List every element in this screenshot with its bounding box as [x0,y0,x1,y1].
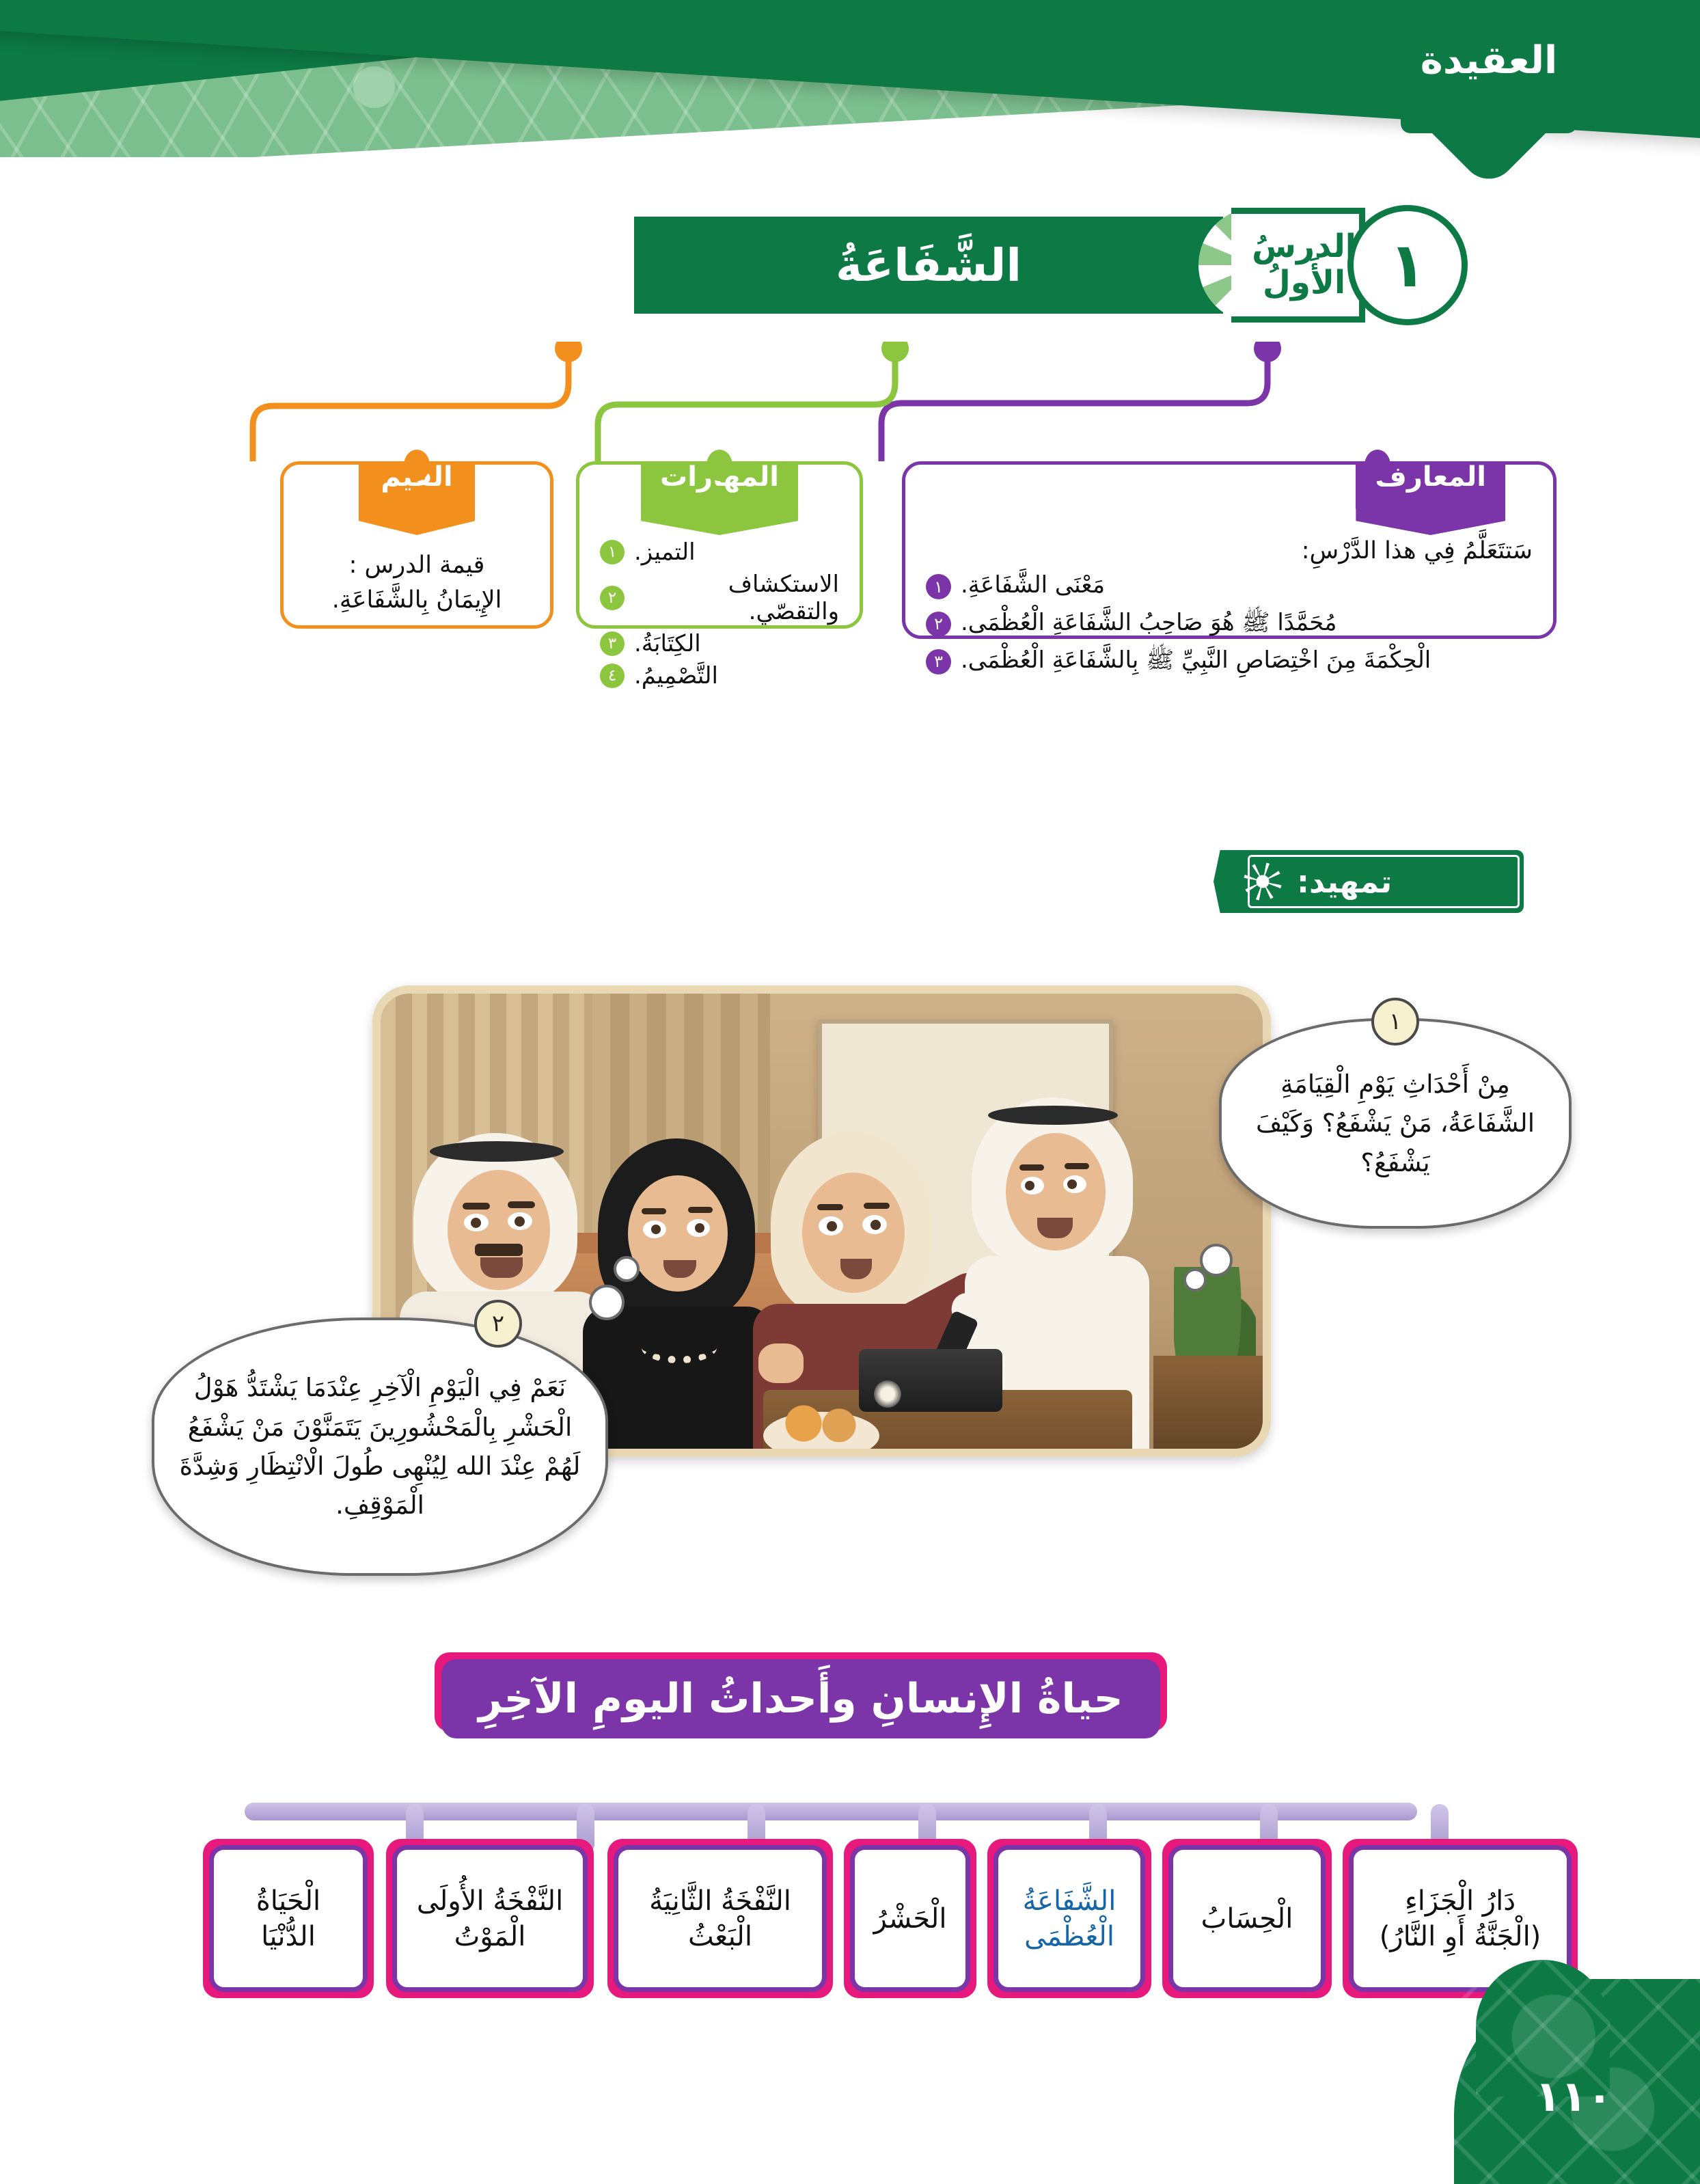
girl-eye-left [819,1216,843,1236]
flow-title-text: حياةُ الإِنسانِ وأَحداثُ اليومِ الآخِرِ [478,1675,1123,1723]
skills-item: التميز. ١ [600,538,839,566]
flow-card-3-text: النَّفْخَةُ الثَّانِيَةُ الْبَعْثُ [649,1883,791,1954]
bubble2-tail-small [614,1256,640,1282]
mother-head [628,1175,728,1292]
skills-item: التَّصْمِيمُ. ٤ [600,662,839,690]
boy-igal [988,1106,1118,1125]
father-brow-right [508,1201,535,1208]
boy-head [1006,1133,1106,1251]
skills-item-number: ٤ [600,664,625,688]
boy-pupil-left [1025,1181,1034,1190]
objectives-section: المعارف سَتتَعَلَّمُ فِي هذا الدَّرْسِ: … [0,461,1700,817]
bubble1-tail-small [1183,1268,1207,1292]
father-mouth [480,1257,523,1278]
mother-brow-left [642,1208,666,1214]
knowledge-box: المعارف سَتتَعَلَّمُ فِي هذا الدَّرْسِ: … [902,461,1557,639]
flow-card-5-text: الشَّفَاعَةُ الْعُظْمَى [1023,1883,1116,1954]
mother-brow-right [688,1207,713,1213]
projector-icon [859,1349,1002,1412]
flow-card-1-text: الْحَيَاةُ الدُّنْيَا [256,1883,320,1954]
knowledge-item-text: مَعْنَى الشَّفَاعَةِ. [961,570,1105,601]
bubble1-tail-large [1200,1244,1233,1277]
values-body: قيمة الدرس : الإِيمَانُ بِالشَّفَاعَةِ. [284,540,550,625]
knowledge-item-text: الْحِكْمَةَ مِنَ اخْتِصَاصِ النَّبِيِّ ﷺ… [961,645,1431,677]
girl-mouth [840,1259,872,1279]
speech-bubble-1-text: مِنْ أَحْدَاثِ يَوْمِ الْقِيَامَةِ الشَّ… [1222,1051,1569,1196]
father-igal [430,1141,564,1162]
connector-lines [0,342,1700,478]
connector-values [253,349,568,461]
knowledge-item: مُحَمَّدًا ﷺ هُوَ صَاحِبُ الشَّفَاعَةِ ا… [926,608,1533,639]
girl-eye-right [862,1215,887,1234]
knowledge-connector-dot [1365,450,1390,481]
girl-brow-right [864,1203,890,1209]
side-table [1153,1356,1263,1449]
mother-pupil-left [651,1225,661,1234]
lesson-number: ١ [1389,230,1427,301]
connector-dot-skills [881,342,909,362]
knowledge-item: مَعْنَى الشَّفَاعَةِ. ١ [926,570,1533,601]
skills-item-text: التميز. [634,538,696,566]
speech-bubble-2-number: ٢ [474,1300,522,1348]
mother-pupil-right [695,1223,704,1233]
knowledge-item-number: ٣ [926,649,951,674]
father-brow-left [463,1203,490,1210]
lesson-label-line1: الدرسُ [1252,229,1356,265]
skills-item: الاستكشاف والتقصّي. ٢ [600,571,839,625]
lesson-label: الدرسُ الأَولُ [1231,208,1365,323]
boy-mouth [1037,1218,1073,1238]
subject-label: العقيدة [1421,38,1557,83]
knowledge-tag-label: المعارف [1375,461,1486,493]
father-pupil-right [515,1216,525,1227]
speech-bubble-2: ٢ نَعَمْ فِي الْيَوْمِ الْآخِرِ عِنْدَمَ… [152,1318,608,1576]
father-pupil-left [471,1218,481,1228]
flow-card-6-text: الْحِسَابُ [1201,1901,1293,1937]
boy-brow-right [1065,1163,1089,1169]
values-connector-dot [404,450,430,481]
skills-item-text: الاستكشاف والتقصّي. [634,571,839,625]
flow-title: حياةُ الإِنسانِ وأَحداثُ اليومِ الآخِرِ [441,1659,1160,1738]
boy-eye-right [1063,1175,1086,1193]
fruit [777,1404,866,1443]
mother-eye-left [643,1220,666,1238]
values-line2: الإِيمَانُ بِالشَّفَاعَةِ. [304,583,530,618]
skills-connector-dot [707,450,732,481]
skills-item-text: التَّصْمِيمُ. [634,662,718,690]
lesson-title: الشَّفَاعَةُ [836,239,1022,292]
knowledge-item-text: مُحَمَّدًا ﷺ هُوَ صَاحِبُ الشَّفَاعَةِ ا… [961,608,1336,639]
skills-item-number: ١ [600,540,625,564]
skills-item-number: ٣ [600,631,625,656]
flow-card-6: الْحِسَابُ [1168,1845,1326,1992]
flow-card-1: الْحَيَاةُ الدُّنْيَا [209,1845,368,1992]
girl-pupil-left [827,1221,837,1231]
girl-pupil-right [870,1220,881,1230]
flow-card-4: الْحَشْرُ [850,1845,970,1992]
knowledge-item: الْحِكْمَةَ مِنَ اخْتِصَاصِ النَّبِيِّ ﷺ… [926,645,1533,677]
values-line1: قيمة الدرس : [304,548,530,583]
speech-bubble-1-number: ١ [1371,998,1419,1046]
knowledge-item-number: ٢ [926,612,951,637]
skills-box: المهارات التميز. ١ الاستكشاف والتقصّي. ٢… [576,461,863,629]
knowledge-intro: سَتتَعَلَّمُ فِي هذا الدَّرْسِ: [926,537,1533,564]
connector-dot-knowledge [1254,342,1281,362]
knowledge-item-number: ١ [926,574,951,599]
lesson-label-line2: الأَولُ [1263,265,1345,301]
knowledge-body: سَتتَعَلَّمُ فِي هذا الدَّرْسِ: مَعْنَى … [905,530,1553,636]
values-box: القيم قيمة الدرس : الإِيمَانُ بِالشَّفَا… [280,461,553,629]
speech-bubble-1: ١ مِنْ أَحْدَاثِ يَوْمِ الْقِيَامَةِ الش… [1219,1018,1572,1229]
bubble2-tail-large [589,1285,625,1320]
mother-necklace [642,1333,717,1363]
mother-mouth [663,1260,696,1278]
mother-dress [583,1307,773,1449]
skills-item: الكِتَابَةُ. ٣ [600,630,839,657]
boy-brow-left [1019,1164,1044,1171]
star-rosette-icon [1244,862,1282,901]
speech-bubble-2-text: نَعَمْ فِي الْيَوْمِ الْآخِرِ عِنْدَمَا … [154,1354,605,1538]
boy-pupil-right [1067,1179,1077,1189]
tamheed-banner: تمهيد: [1244,850,1524,913]
tamheed-label: تمهيد: [1297,864,1392,900]
father-eye-right [508,1212,532,1230]
subject-tab: العقيدة [1401,0,1577,133]
father-moustache [475,1244,523,1256]
flow-card-4-text: الْحَشْرُ [874,1901,947,1937]
girl-hand-pointing [758,1343,804,1383]
connector-knowledge [881,349,1267,461]
father-head [448,1170,550,1290]
skills-item-number: ٢ [600,586,625,610]
connector-dot-values [555,342,582,362]
page-number: ١١٠ [1535,2071,1613,2121]
flow-card-7-text: دَارُ الْجَزَاءِ (الْجَنَّةُ أَوِ النَّا… [1380,1883,1541,1954]
lesson-title-bar: الشَّفَاعَةُ [634,217,1223,314]
connector-skills [598,349,895,461]
lesson-number-badge: ١ [1347,205,1468,325]
boy-eye-left [1021,1177,1044,1195]
flow-card-5: الشَّفَاعَةُ الْعُظْمَى [993,1845,1145,1992]
girl-brow-left [817,1204,843,1210]
flow-card-2-text: النَّفْخَةُ الأُولَى الْمَوْتُ [417,1883,563,1954]
flow-card-3: النَّفْخَةُ الثَّانِيَةُ الْبَعْثُ [614,1845,827,1992]
mother-eye-right [687,1219,710,1237]
skills-item-text: الكِتَابَةُ. [634,630,701,657]
flow-card-2: النَّفْخَةُ الأُولَى الْمَوْتُ [392,1845,588,1992]
girl-head [802,1173,905,1293]
skills-body: التميز. ١ الاستكشاف والتقصّي. ٢ الكِتَاب… [579,536,860,625]
father-eye-left [464,1214,489,1231]
lesson-header: ١ الدرسُ الأَولُ الشَّفَاعَةُ [634,197,1459,333]
